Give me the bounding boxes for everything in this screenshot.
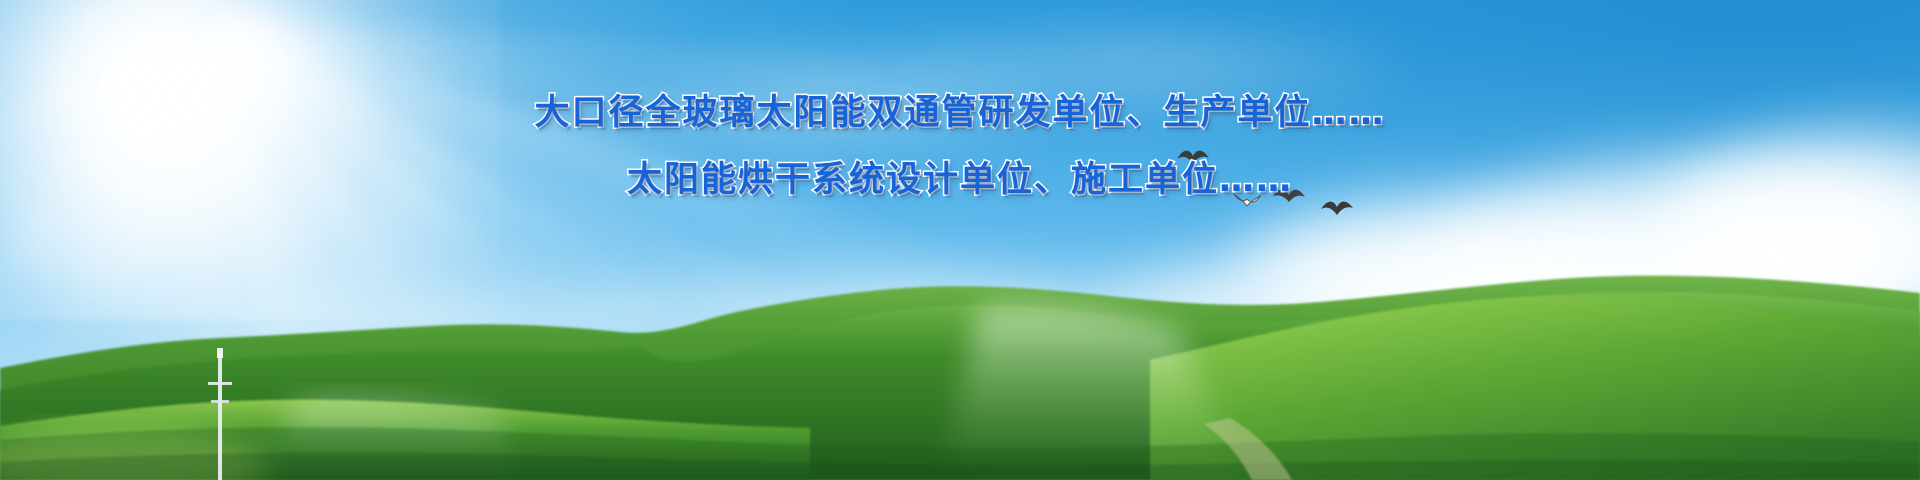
promo-banner: 大口径全玻璃太阳能双通管研发单位、生产单位…… 太阳能烘干系统设计单位、施工单位… [0,0,1920,480]
flying-bird-icon [1232,186,1262,212]
flying-bird-icon [1176,146,1210,172]
green-hills [0,250,1920,480]
flying-bird-icon [1320,196,1354,222]
utility-pole-icon [206,348,234,480]
flying-bird-icon [1272,184,1306,210]
